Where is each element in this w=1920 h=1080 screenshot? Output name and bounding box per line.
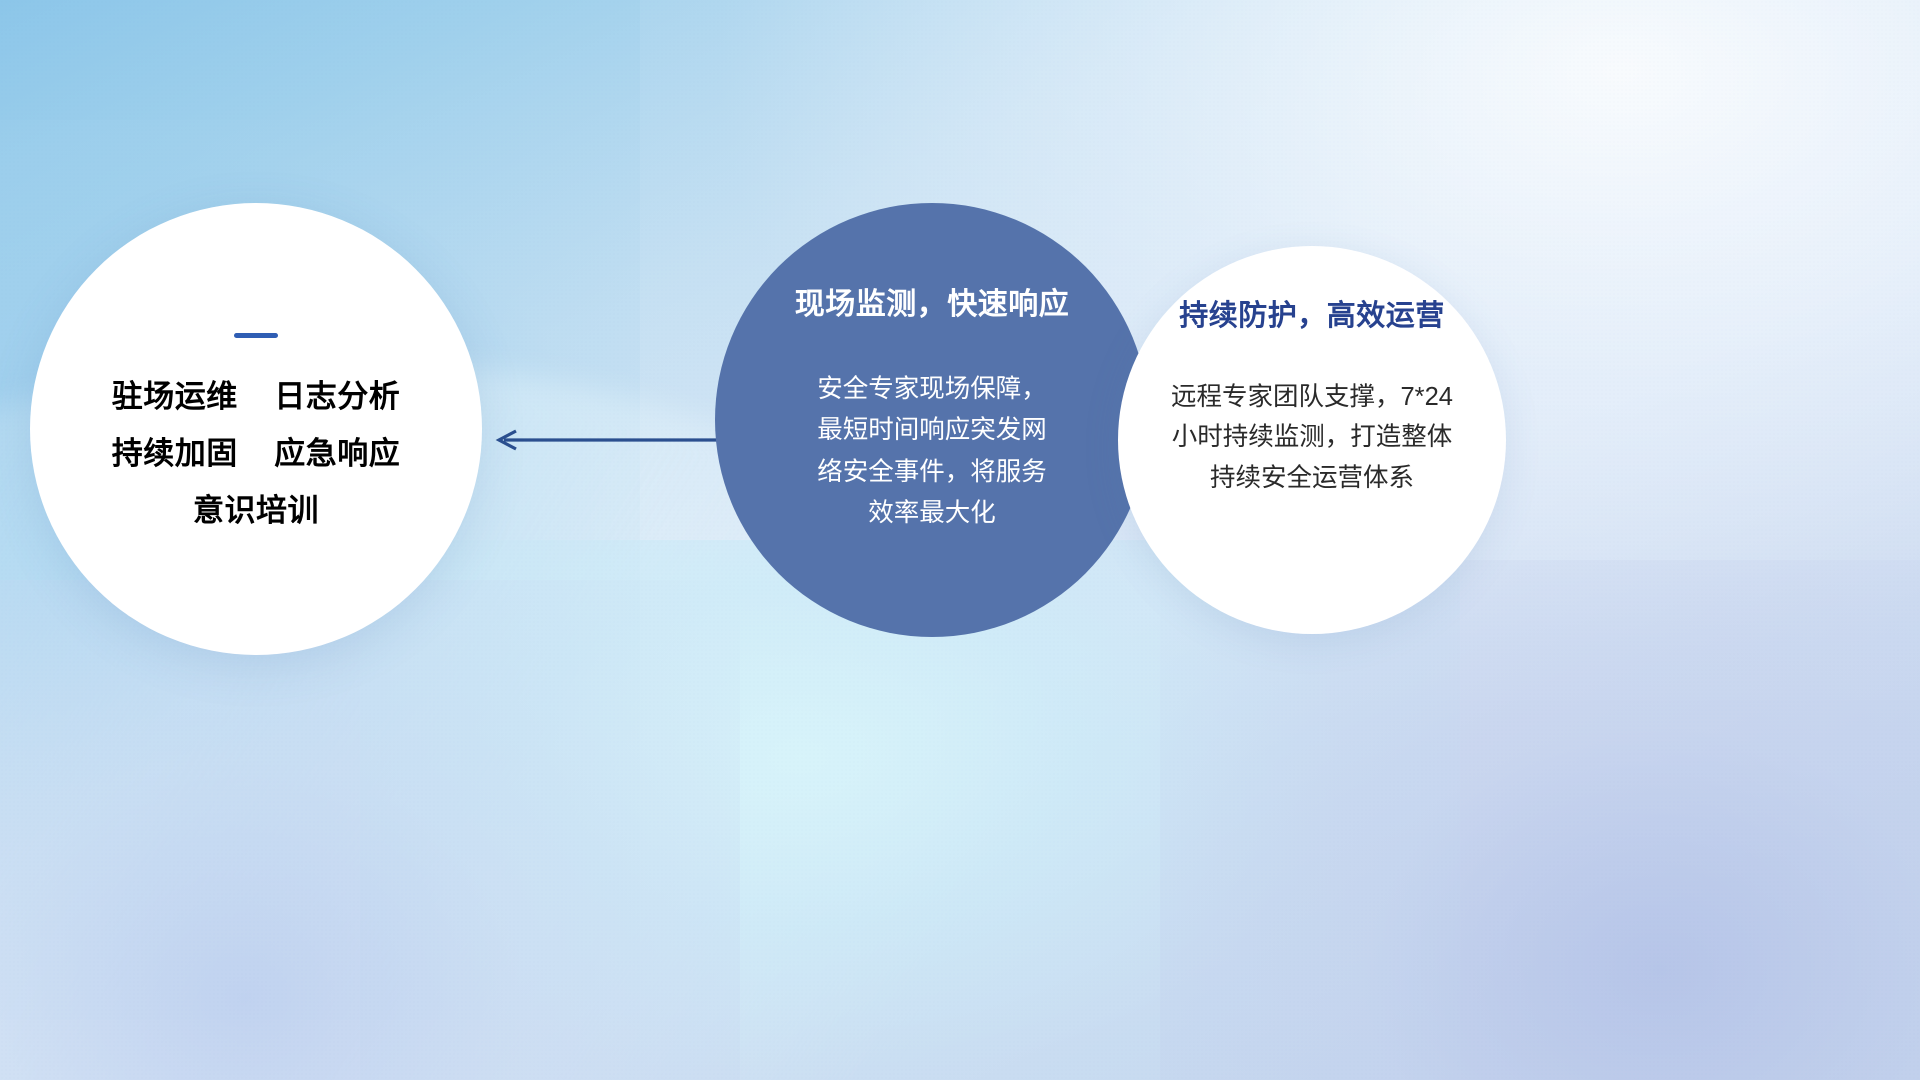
continuous-protection-description-line-1: 远程专家团队支撑，7*24 <box>1136 377 1488 417</box>
title-divider-dash <box>234 333 278 338</box>
capability-circle-left[interactable]: 驻场运维 日志分析 持续加固 应急响应 意识培训 <box>30 203 482 655</box>
capability-line-1: 驻场运维 日志分析 <box>112 381 400 412</box>
onsite-monitoring-description-line-4: 效率最大化 <box>777 493 1087 534</box>
continuous-protection-description-line-3: 持续安全运营体系 <box>1136 458 1488 498</box>
continuous-protection-description-line-2: 小时持续监测，打造整体 <box>1136 417 1488 457</box>
onsite-monitoring-description-line-2: 最短时间响应突发网 <box>777 410 1087 451</box>
capability-line-3: 意识培训 <box>193 495 319 526</box>
onsite-monitoring-description-line-3: 络安全事件，将服务 <box>777 452 1087 493</box>
onsite-monitoring-title: 现场监测，快速响应 <box>795 290 1070 320</box>
onsite-monitoring-circle[interactable]: 现场监测，快速响应 安全专家现场保障， 最短时间响应突发网 络安全事件，将服务 … <box>715 203 1149 637</box>
capability-line-2: 持续加固 应急响应 <box>112 438 400 469</box>
capability-list: 驻场运维 日志分析 持续加固 应急响应 意识培训 <box>112 381 400 526</box>
continuous-protection-title: 持续防护，高效运营 <box>1179 302 1445 331</box>
continuous-protection-circle[interactable]: 持续防护，高效运营 远程专家团队支撑，7*24 小时持续监测，打造整体 持续安全… <box>1118 246 1506 634</box>
flow-arrow-left-icon <box>490 418 720 462</box>
slide-canvas: 驻场运维 日志分析 持续加固 应急响应 意识培训 现场监测，快速响应 安全专家现… <box>0 0 1920 1080</box>
onsite-monitoring-description-line-1: 安全专家现场保障， <box>777 369 1087 410</box>
onsite-monitoring-description: 安全专家现场保障， 最短时间响应突发网 络安全事件，将服务 效率最大化 <box>777 369 1087 534</box>
continuous-protection-description: 远程专家团队支撑，7*24 小时持续监测，打造整体 持续安全运营体系 <box>1136 377 1488 498</box>
